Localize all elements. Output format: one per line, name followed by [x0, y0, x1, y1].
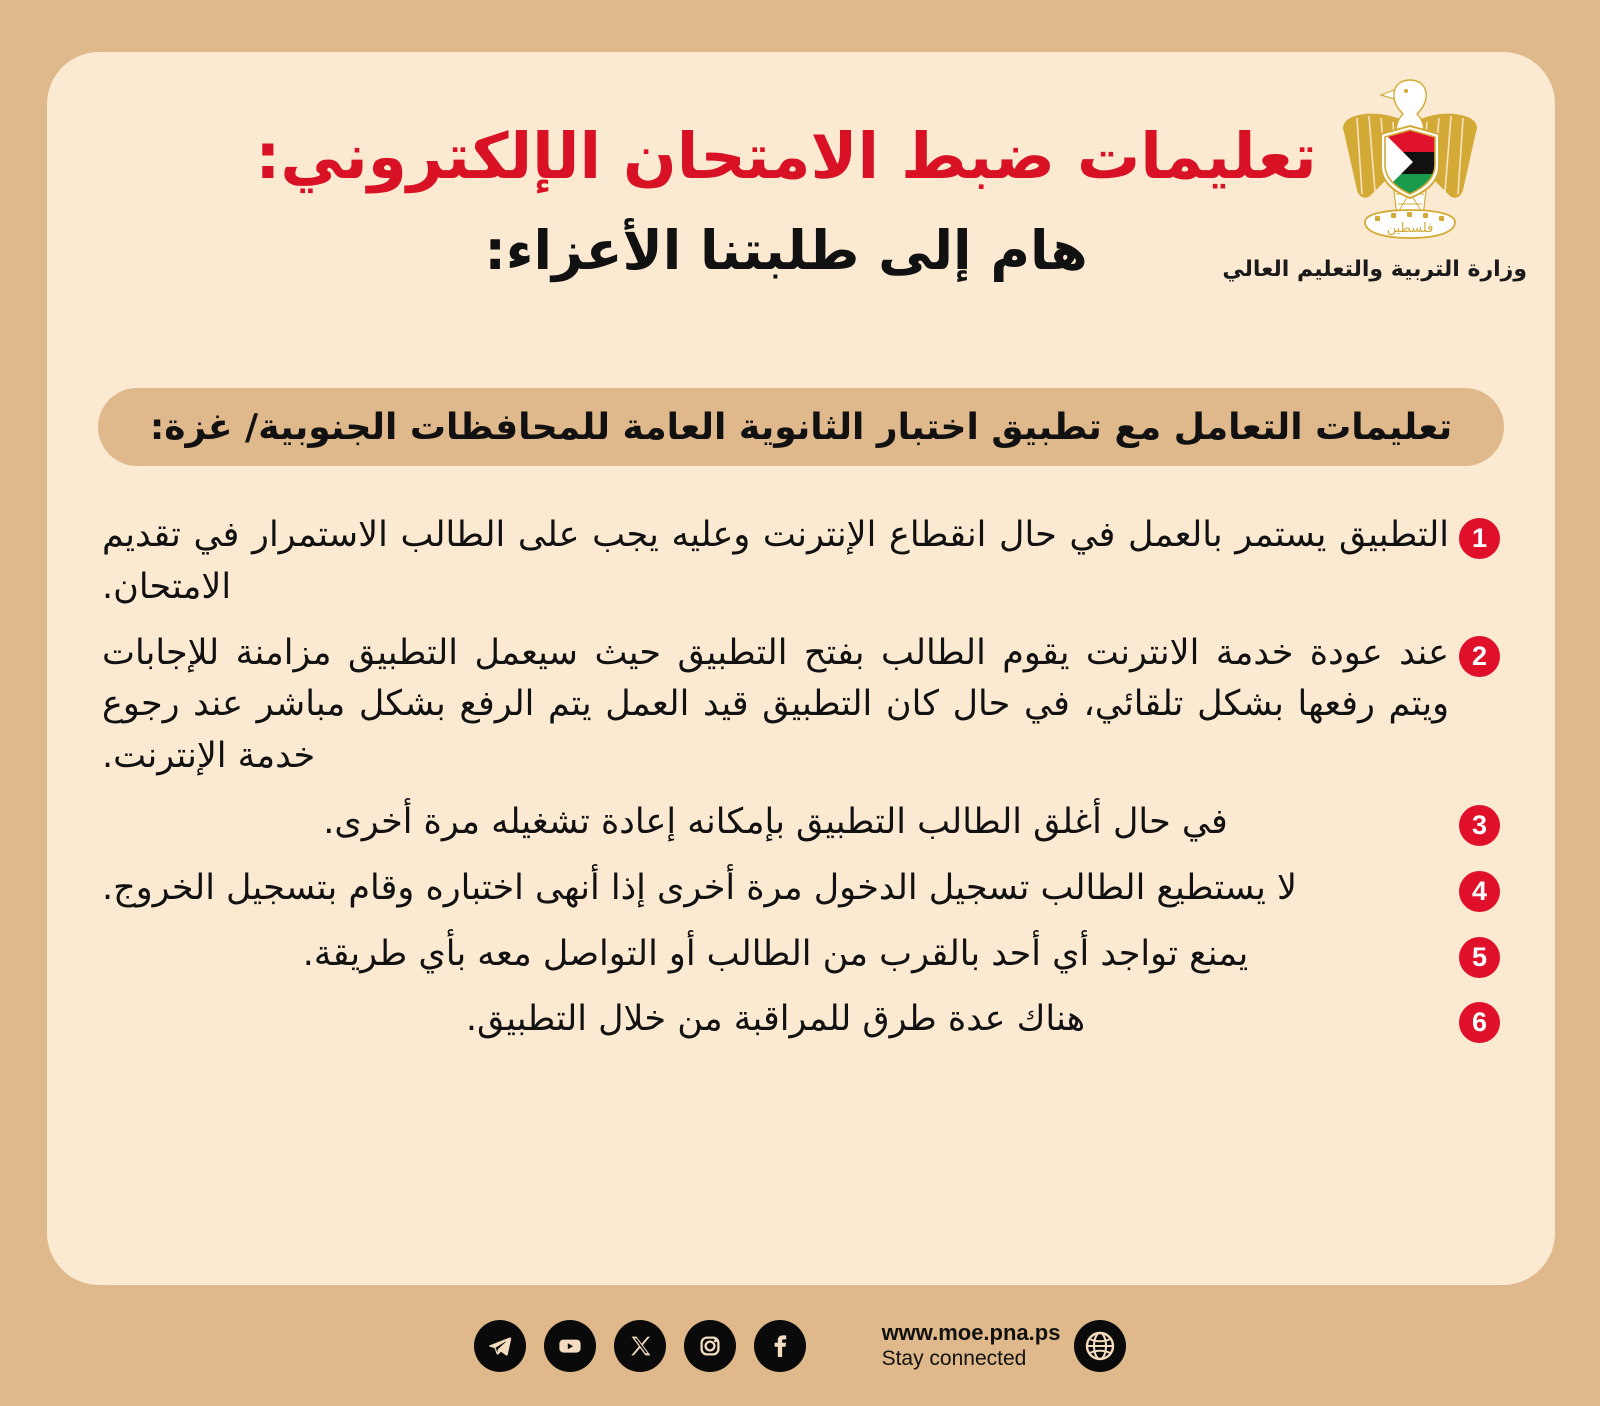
x-twitter-icon[interactable] [614, 1320, 666, 1372]
item-text: لا يستطيع الطالب تسجيل الدخول مرة أخرى إ… [102, 863, 1449, 915]
palestine-flag-shield [1379, 126, 1441, 200]
item-text: يمنع تواجد أي أحد بالقرب من الطالب أو ال… [102, 929, 1449, 981]
youtube-icon[interactable] [544, 1320, 596, 1372]
website-tagline: Stay connected [882, 1346, 1061, 1371]
palestine-eagle-emblem: فلسطين [1335, 70, 1485, 255]
social-links [474, 1320, 806, 1372]
poster-root: تعليمات ضبط الامتحان الإلكتروني: هام إلى… [0, 0, 1600, 1406]
item-number-badge: 4 [1459, 871, 1500, 912]
globe-icon [1074, 1320, 1126, 1372]
item-text: هناك عدة طرق للمراقبة من خلال التطبيق. [102, 994, 1449, 1046]
list-item: 5 يمنع تواجد أي أحد بالقرب من الطالب أو … [102, 929, 1500, 981]
list-item: 1 التطبيق يستمر بالعمل في حال انقطاع الإ… [102, 510, 1500, 614]
emblem-scroll-text: فلسطين [1386, 221, 1433, 236]
section-banner-label: تعليمات التعامل مع تطبيق اختبار الثانوية… [150, 407, 1452, 448]
list-item: 6 هناك عدة طرق للمراقبة من خلال التطبيق. [102, 994, 1500, 1046]
item-text: عند عودة خدمة الانترنت يقوم الطالب بفتح … [102, 628, 1449, 783]
emblem-scroll: فلسطين [1365, 210, 1455, 238]
footer-bar: www.moe.pna.ps Stay connected [0, 1285, 1600, 1406]
instructions-list: 1 التطبيق يستمر بالعمل في حال انقطاع الإ… [102, 510, 1500, 1060]
telegram-icon[interactable] [474, 1320, 526, 1372]
item-number-badge: 2 [1459, 636, 1500, 677]
footer-content: www.moe.pna.ps Stay connected [474, 1320, 1127, 1372]
website-url: www.moe.pna.ps [882, 1320, 1061, 1346]
facebook-icon[interactable] [754, 1320, 806, 1372]
website-block[interactable]: www.moe.pna.ps Stay connected [882, 1320, 1127, 1372]
header-title-block: تعليمات ضبط الامتحان الإلكتروني: هام إلى… [187, 120, 1385, 287]
ministry-logo-block: فلسطين وزارة التربية والتعليم العالي [1292, 70, 1527, 282]
item-number-badge: 5 [1459, 937, 1500, 978]
instagram-icon[interactable] [684, 1320, 736, 1372]
website-labels: www.moe.pna.ps Stay connected [882, 1320, 1061, 1371]
ministry-name-label: وزارة التربية والتعليم العالي [1292, 257, 1527, 282]
list-item: 2 عند عودة خدمة الانترنت يقوم الطالب بفت… [102, 628, 1500, 783]
item-text: في حال أغلق الطالب التطبيق بإمكانه إعادة… [102, 797, 1449, 849]
item-number-badge: 1 [1459, 518, 1500, 559]
page-subtitle: هام إلى طلبتنا الأعزاء: [187, 216, 1385, 286]
page-title: تعليمات ضبط الامتحان الإلكتروني: [187, 120, 1385, 194]
announcement-card: تعليمات ضبط الامتحان الإلكتروني: هام إلى… [47, 52, 1555, 1285]
list-item: 4 لا يستطيع الطالب تسجيل الدخول مرة أخرى… [102, 863, 1500, 915]
item-text: التطبيق يستمر بالعمل في حال انقطاع الإنت… [102, 510, 1449, 614]
poster-header: تعليمات ضبط الامتحان الإلكتروني: هام إلى… [47, 52, 1555, 382]
section-banner: تعليمات التعامل مع تطبيق اختبار الثانوية… [98, 388, 1504, 466]
list-item: 3 في حال أغلق الطالب التطبيق بإمكانه إعا… [102, 797, 1500, 849]
item-number-badge: 6 [1459, 1002, 1500, 1043]
item-number-badge: 3 [1459, 805, 1500, 846]
